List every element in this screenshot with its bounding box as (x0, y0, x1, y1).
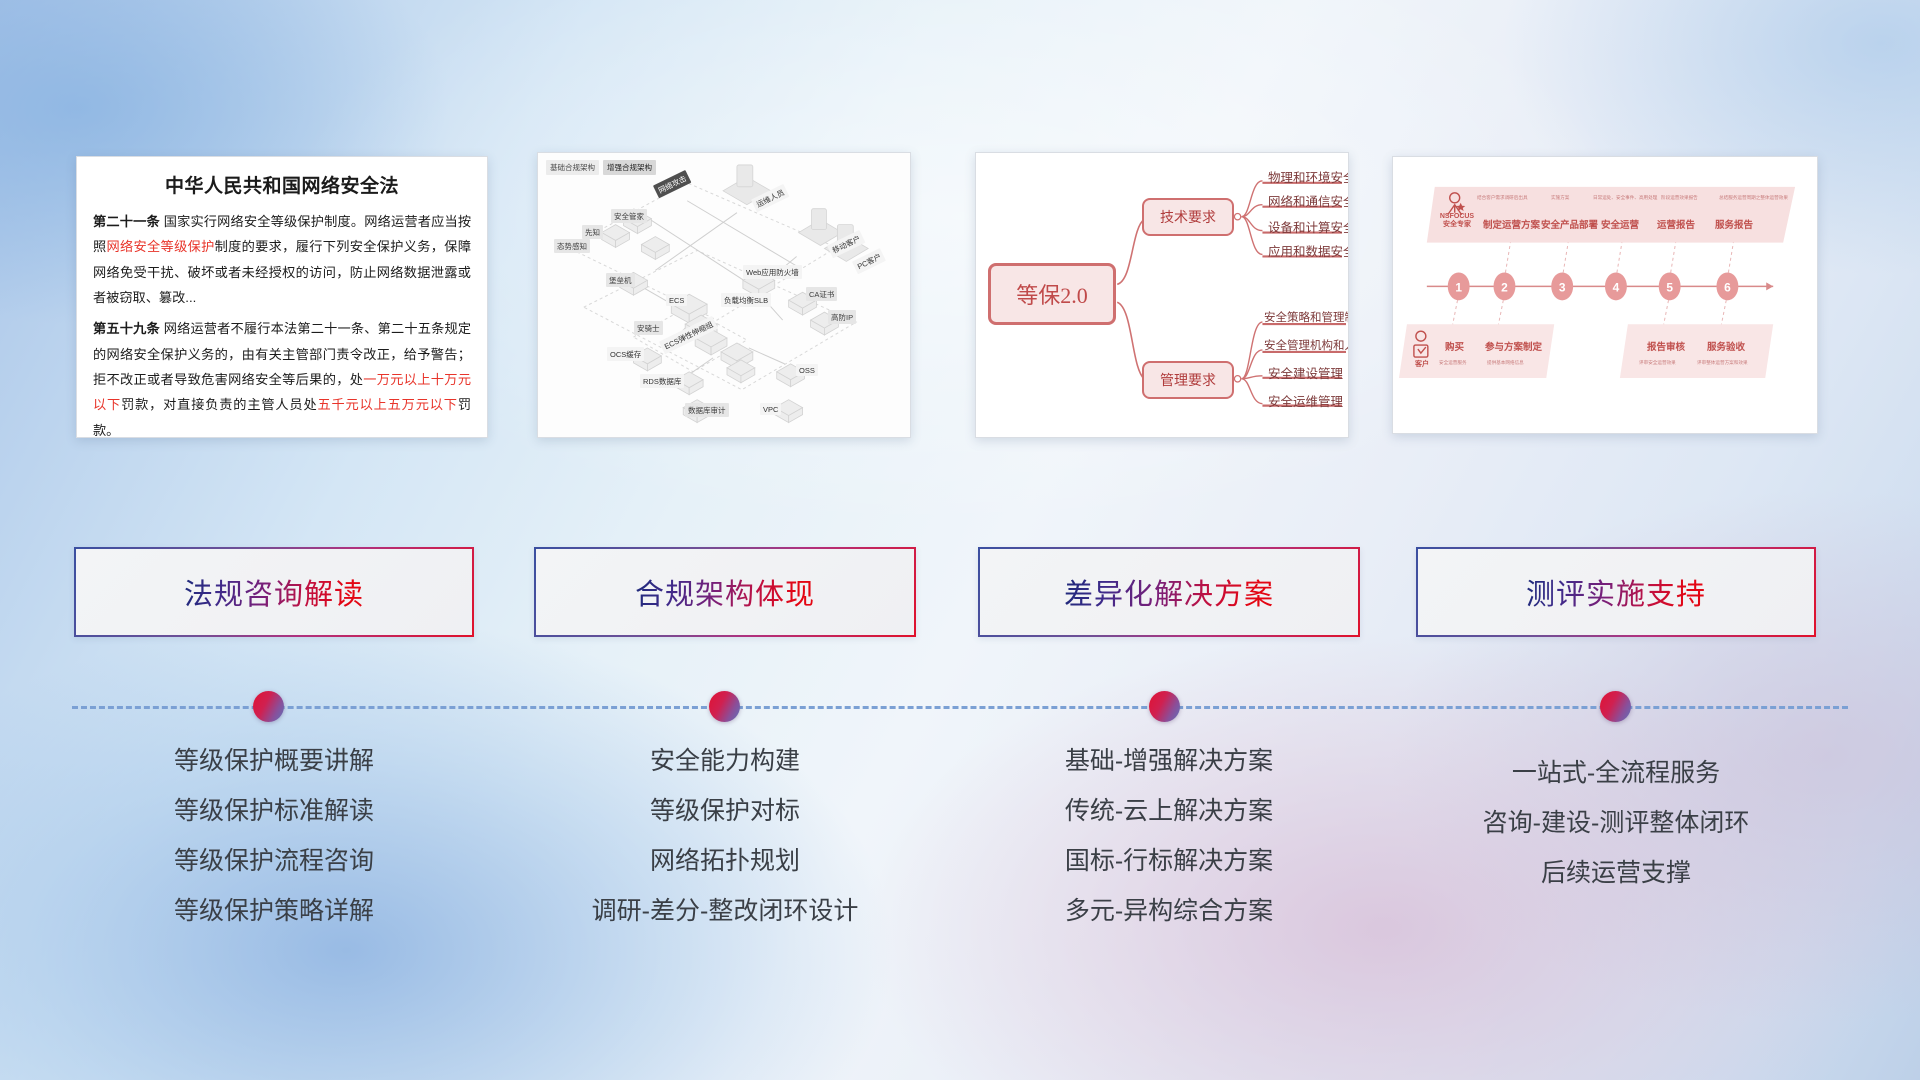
list-item: 等级保护概要讲解 (74, 736, 474, 786)
architecture-tab-bar: 基础合规架构 增强合规架构 (546, 160, 656, 175)
list-item: 调研-差分-整改闭环设计 (534, 886, 916, 936)
mindmap-leaf: 设备和计算安全 (1268, 217, 1349, 236)
arch-node-label: CA证书 (806, 287, 837, 301)
process-step-title: 报告审核 (1647, 339, 1685, 353)
architecture-tab-basic[interactable]: 基础合规架构 (546, 160, 599, 175)
timeline-dashed-line (72, 706, 1848, 709)
service-lists-row: 等级保护概要讲解 等级保护标准解读 等级保护流程咨询 等级保护策略详解 安全能力… (0, 736, 1920, 966)
list-item: 等级保护流程咨询 (74, 836, 474, 886)
mindmap-branch-technical: 技术要求 (1142, 198, 1234, 236)
timeline-axis (0, 682, 1920, 732)
svg-text:2: 2 (1501, 280, 1508, 294)
mindmap-leaf: 安全建设管理 (1268, 363, 1343, 382)
law-paragraph-21: 第二十一条 国家实行网络安全等级保护制度。网络运营者应当按照网络安全等级保护制度… (93, 209, 471, 310)
law-text-plain: 罚款，对直接负责的主管人员处 (121, 397, 317, 412)
arch-node-label: RDS数据库 (640, 374, 684, 388)
process-step-title: 购买 (1445, 339, 1464, 353)
process-diagram: 1 2 3 4 5 6 NSFOCUS 安全专家 客户 结合客户需求调研后出具 … (1393, 157, 1817, 433)
process-step-sub: 日常运处、安全事件、高用处理 (1593, 195, 1657, 201)
headline-label: 测评实施支持 (1526, 571, 1706, 613)
arch-node-label: 先知 (582, 225, 603, 239)
svg-text:5: 5 (1666, 280, 1673, 294)
timeline-dot-1[interactable] (253, 691, 284, 722)
card-cybersecurity-law: 中华人民共和国网络安全法 第二十一条 国家实行网络安全等级保护制度。网络运营者应… (76, 156, 488, 438)
arch-node-label: OSS (796, 364, 818, 376)
list-item: 传统-云上解决方案 (978, 786, 1360, 836)
arch-node-label: 数据库审计 (685, 403, 729, 417)
process-role-expert: NSFOCUS 安全专家 (1433, 213, 1481, 229)
process-step-sub: 提供基本网络信息 (1487, 360, 1524, 366)
arch-node-label: 堡垒机 (606, 273, 635, 287)
list-item: 后续运营支撑 (1416, 848, 1816, 898)
illustration-cards-row: 中华人民共和国网络安全法 第二十一条 国家实行网络安全等级保护制度。网络运营者应… (0, 152, 1920, 442)
timeline-dot-2[interactable] (709, 691, 740, 722)
process-step-title: 安全产品部署 (1541, 217, 1598, 231)
arch-node-label: OCS缓存 (607, 347, 644, 361)
headline-label: 差异化解决方案 (1064, 571, 1274, 613)
process-step-title: 制定运营方案 (1483, 217, 1540, 231)
process-step-sub: 结合客户需求调研后出具 (1477, 195, 1528, 201)
mindmap-leaf: 应用和数据安全 (1268, 241, 1349, 260)
process-step-sub: 评审整体运营方案和效果 (1697, 360, 1748, 366)
mindmap-leaf: 网络和通信安全 (1268, 191, 1349, 210)
law-article-number: 第五十九条 (93, 321, 160, 336)
list-item: 网络拓扑规划 (534, 836, 916, 886)
process-step-sub: 评审安全运营效果 (1639, 360, 1676, 366)
process-step-title: 服务报告 (1715, 217, 1753, 231)
headline-box-regulation-consulting[interactable]: 法规咨询解读 (74, 547, 474, 637)
arch-node-label: Web应用防火墙 (743, 265, 802, 279)
arch-node-label: 高防IP (828, 310, 856, 324)
headline-label: 合规架构体现 (635, 571, 815, 613)
law-paragraph-59: 第五十九条 网络运营者不履行本法第二十一条、第二十五条规定的网络安全保护义务的，… (93, 316, 471, 438)
svg-text:6: 6 (1724, 280, 1731, 294)
mindmap-leaf: 物理和环境安全 (1268, 167, 1349, 186)
card-dengbao-mindmap: 等保2.0 技术要求 管理要求 物理和环境安全 网络和通信安全 设备和计算安全 … (975, 152, 1349, 438)
law-article-number: 第二十一条 (93, 214, 160, 229)
list-item: 等级保护策略详解 (74, 886, 474, 936)
slide-canvas: 中华人民共和国网络安全法 第二十一条 国家实行网络安全等级保护制度。网络运营者应… (0, 0, 1920, 1080)
headline-box-compliance-architecture[interactable]: 合规架构体现 (534, 547, 916, 637)
architecture-diagram: 基础合规架构 增强合规架构 (538, 153, 910, 437)
law-text-highlight: 五千元以上五万元以下 (318, 397, 458, 412)
arch-node-label: ECS (666, 294, 687, 306)
mindmap-leaf: 安全管理机构和人员 (1264, 337, 1349, 353)
list-item: 咨询-建设-测评整体闭环 (1416, 798, 1816, 848)
headline-label: 法规咨询解读 (184, 571, 364, 613)
list-item: 等级保护对标 (534, 786, 916, 836)
architecture-tab-enhanced[interactable]: 增强合规架构 (603, 160, 656, 175)
mindmap-leaf: 安全运维管理 (1268, 391, 1343, 410)
arch-node-label: 态势感知 (554, 239, 590, 253)
process-step-sub: 安全运营服务 (1439, 360, 1467, 366)
headline-boxes-row: 法规咨询解读 合规架构体现 差异化解决方案 测评实施支持 (0, 547, 1920, 643)
process-step-title: 参与方案制定 (1485, 339, 1542, 353)
service-list-solutions: 基础-增强解决方案 传统-云上解决方案 国标-行标解决方案 多元-异构综合方案 (978, 736, 1360, 936)
arch-node-label: 安全管家 (611, 209, 647, 223)
arch-node-label: 负载均衡SLB (721, 293, 771, 307)
process-step-sub: 总结服务运营周期之整体运营效果 (1719, 195, 1788, 201)
timeline-dot-3[interactable] (1149, 691, 1180, 722)
card-compliance-architecture: 基础合规架构 增强合规架构 (537, 152, 911, 438)
list-item: 基础-增强解决方案 (978, 736, 1360, 786)
process-role-customer: 客户 (1405, 361, 1439, 369)
service-list-architecture: 安全能力构建 等级保护对标 网络拓扑规划 调研-差分-整改闭环设计 (534, 736, 916, 936)
list-item: 一站式-全流程服务 (1416, 748, 1816, 798)
headline-box-differentiated-solution[interactable]: 差异化解决方案 (978, 547, 1360, 637)
process-step-sub: 实施方案 (1551, 195, 1569, 201)
svg-text:3: 3 (1559, 280, 1566, 294)
list-item: 等级保护标准解读 (74, 786, 474, 836)
service-list-regulation: 等级保护概要讲解 等级保护标准解读 等级保护流程咨询 等级保护策略详解 (74, 736, 474, 936)
list-item: 安全能力构建 (534, 736, 916, 786)
list-item: 多元-异构综合方案 (978, 886, 1360, 936)
mindmap-branch-management: 管理要求 (1142, 361, 1234, 399)
svg-text:1: 1 (1455, 280, 1462, 294)
process-step-title: 服务验收 (1707, 339, 1745, 353)
process-step-title: 安全运营 (1601, 217, 1639, 231)
mindmap-root-node: 等保2.0 (988, 263, 1116, 325)
card-service-process: 1 2 3 4 5 6 NSFOCUS 安全专家 客户 结合客户需求调研后出具 … (1392, 156, 1818, 434)
arch-node-label: VPC (760, 403, 781, 415)
law-title: 中华人民共和国网络安全法 (93, 171, 471, 198)
process-step-sub: 阶段运营效果报告 (1661, 195, 1698, 201)
mindmap-diagram: 等保2.0 技术要求 管理要求 物理和环境安全 网络和通信安全 设备和计算安全 … (976, 153, 1348, 437)
arch-node-label: 安骑士 (634, 321, 663, 335)
process-step-title: 运营报告 (1657, 217, 1695, 231)
headline-box-assessment-support[interactable]: 测评实施支持 (1416, 547, 1816, 637)
mindmap-leaf: 安全策略和管理制度 (1264, 309, 1349, 325)
service-list-assessment: 一站式-全流程服务 咨询-建设-测评整体闭环 后续运营支撑 (1416, 748, 1816, 898)
timeline-dot-4[interactable] (1600, 691, 1631, 722)
list-item: 国标-行标解决方案 (978, 836, 1360, 886)
svg-text:4: 4 (1613, 280, 1620, 294)
law-text-highlight: 网络安全等级保护 (107, 239, 215, 254)
